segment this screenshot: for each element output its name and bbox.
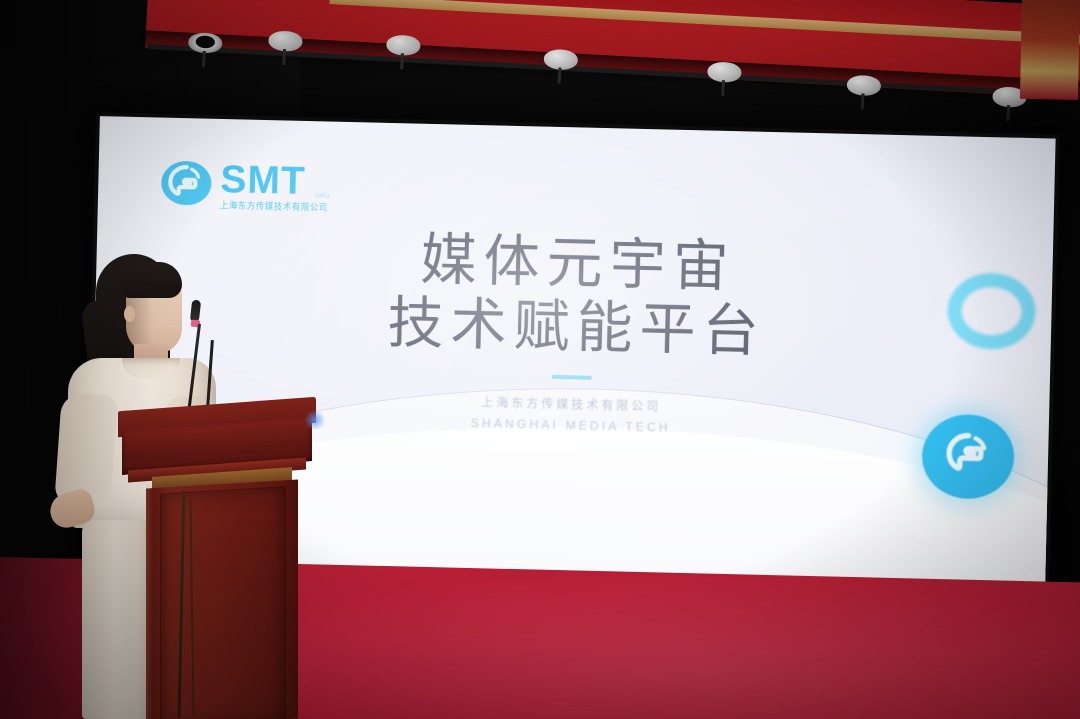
title-accent-bar [552, 374, 592, 379]
stage-lamp-icon [543, 49, 578, 73]
gooseneck-microphone [182, 300, 222, 418]
podium-indicator-glow [304, 410, 326, 430]
smt-logo-lockup: SMT 上海东方传媒技术有限公司 SMG [160, 160, 329, 214]
podium-column [146, 479, 298, 719]
stage-lamp-icon [707, 61, 742, 85]
smt-logo-chinese-subtext: 上海东方传媒技术有限公司 [220, 199, 328, 214]
stage-lamp-icon [386, 34, 421, 58]
stage-lamp-icon [188, 32, 223, 56]
stage-lamp-icon [268, 30, 303, 54]
right-wall-strip [1020, 0, 1080, 100]
presenter-ear [124, 306, 135, 322]
smt-wordmark-block: SMT 上海东方传媒技术有限公司 SMG [220, 161, 329, 213]
smt-wordmark: SMT [220, 162, 329, 200]
smg-group-label: SMG [315, 193, 331, 199]
smt-g-mark-icon [160, 160, 213, 207]
stage-lamp-icon [846, 75, 881, 99]
wooden-podium [118, 404, 316, 719]
presenter-fringe [120, 262, 182, 298]
podium-edge-highlight [146, 484, 153, 719]
presentation-photo-scene: SMT 上海东方传媒技术有限公司 SMG 媒体元宇宙 技术赋能平台 上海东方传媒… [0, 0, 1080, 719]
